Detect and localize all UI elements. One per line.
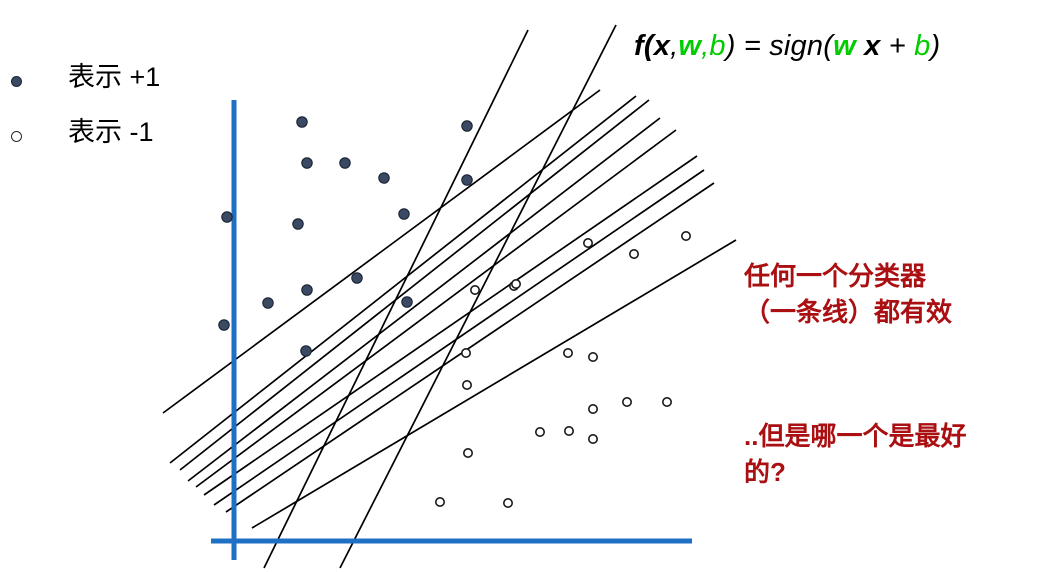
negative-point-6	[564, 349, 572, 357]
positive-point-4	[379, 173, 389, 183]
note-any-classifier: 任何一个分类器 （一条线）都有效	[744, 258, 952, 330]
negative-point-12	[589, 405, 597, 413]
positive-point-2	[302, 158, 312, 168]
classifier-line-4	[180, 100, 649, 470]
positive-point-13	[219, 320, 229, 330]
classifier-line-3	[170, 96, 636, 463]
formula-token-7: w	[833, 30, 856, 62]
note-which-is-best: ..但是哪一个是最好 的?	[744, 418, 966, 490]
legend-label-negative: 表示 -1	[68, 115, 154, 149]
positive-point-8	[399, 209, 409, 219]
positive-point-11	[263, 298, 273, 308]
legend-item-negative: 表示 -1	[0, 115, 230, 170]
negative-point-17	[436, 498, 444, 506]
axes-group	[211, 100, 692, 560]
negative-point-1	[584, 239, 592, 247]
data-points-group	[219, 117, 690, 507]
positive-point-5	[462, 175, 472, 185]
formula-token-12: )	[930, 30, 940, 62]
negative-point-13	[536, 428, 544, 436]
negative-point-5	[471, 286, 479, 294]
legend: 表示 +1 表示 -1	[0, 60, 230, 170]
legend-label-positive: 表示 +1	[68, 60, 160, 94]
negative-point-7	[589, 353, 597, 361]
negative-point-10	[623, 398, 631, 406]
negative-point-11	[663, 398, 671, 406]
negative-point-4	[512, 280, 520, 288]
negative-point-18	[504, 499, 512, 507]
classifier-line-9	[226, 183, 714, 512]
classifier-lines-group	[163, 25, 736, 568]
positive-point-10	[302, 285, 312, 295]
classifier-formula: f(x,w,b) = sign(w x + b)	[634, 30, 940, 63]
formula-token-9: x	[864, 30, 880, 62]
positive-point-0	[297, 117, 307, 127]
positive-point-6	[222, 212, 232, 222]
classifier-line-8	[214, 170, 704, 505]
negative-point-8	[462, 349, 470, 357]
legend-item-positive: 表示 +1	[0, 60, 230, 115]
negative-point-15	[589, 435, 597, 443]
positive-point-9	[352, 273, 362, 283]
formula-token-3: w	[678, 30, 701, 62]
negative-point-16	[464, 449, 472, 457]
hollow-dot-icon	[11, 131, 22, 142]
positive-point-3	[340, 158, 350, 168]
positive-point-1	[462, 121, 472, 131]
formula-token-1: x	[654, 30, 670, 62]
classifier-line-10	[252, 240, 736, 528]
positive-point-7	[293, 219, 303, 229]
negative-point-9	[463, 381, 471, 389]
formula-token-11: b	[914, 30, 930, 62]
formula-token-6: ) = sign(	[726, 30, 833, 62]
negative-point-2	[630, 250, 638, 258]
formula-token-5: b	[709, 30, 725, 62]
formula-token-10: +	[880, 30, 914, 62]
classifier-line-7	[204, 156, 697, 495]
formula-token-0: f(	[634, 30, 654, 62]
positive-point-14	[301, 346, 311, 356]
negative-point-14	[565, 427, 573, 435]
slide-canvas: 表示 +1 表示 -1 f(x,w,b) = sign(w x + b) 任何一…	[0, 0, 1057, 572]
negative-point-0	[682, 232, 690, 240]
formula-token-8	[856, 30, 864, 62]
positive-point-12	[402, 297, 412, 307]
filled-dot-icon	[11, 76, 22, 87]
